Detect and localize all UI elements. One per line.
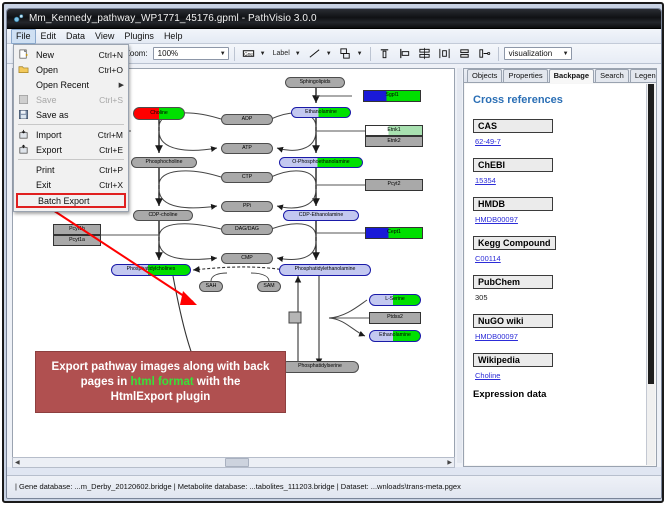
- file-menu-import-accel: Ctrl+M: [98, 130, 128, 140]
- xref-value[interactable]: 15354: [475, 176, 639, 185]
- screenshot-root: Mm_Kennedy_pathway_WP1771_45176.gpml - P…: [0, 0, 670, 509]
- file-menu-print-accel: Ctrl+P: [99, 165, 128, 175]
- backpage-title: Cross references: [473, 94, 639, 106]
- xref-entry-hmdb: HMDB HMDB00097: [473, 194, 639, 224]
- tab-legend[interactable]: Legend: [630, 69, 657, 82]
- export-icon: [18, 144, 29, 155]
- backpage-vertical-scrollbar[interactable]: [646, 84, 655, 465]
- file-menu-export-accel: Ctrl+E: [99, 145, 128, 155]
- node-sah[interactable]: SAH: [199, 281, 223, 292]
- shape-tool[interactable]: ▼: [337, 45, 365, 62]
- file-menu-export[interactable]: Export Ctrl+E: [14, 142, 128, 157]
- node-sphingolipids[interactable]: Sphingolipids: [285, 77, 345, 88]
- file-menu-open-recent-label: Open Recent: [36, 80, 128, 90]
- node-label: Phosphocholine: [146, 160, 183, 165]
- toolbar-separator: [234, 47, 235, 61]
- callout-banner: Export pathway images along with back pa…: [35, 351, 286, 413]
- xref-head: Wikipedia: [473, 353, 553, 367]
- label-tool[interactable]: Label ▼: [271, 50, 303, 57]
- xref-link[interactable]: C00114: [475, 254, 501, 263]
- xref-value: 305: [475, 293, 639, 302]
- svg-text:Gne: Gne: [244, 51, 253, 56]
- file-menu-new-label: New: [36, 50, 99, 60]
- xref-link[interactable]: 15354: [475, 176, 496, 185]
- save-icon: [18, 94, 29, 105]
- file-menu-exit-accel: Ctrl+X: [99, 180, 128, 190]
- line-tool[interactable]: ▼: [306, 45, 334, 62]
- callout-line1: Export pathway images along with back: [52, 360, 270, 375]
- node-cdp-choline[interactable]: CDP-choline: [133, 210, 193, 221]
- side-panel: Objects Properties Backpage Search Legen…: [463, 68, 657, 467]
- file-menu-import-label: Import: [36, 130, 98, 140]
- xref-link[interactable]: 62-49-7: [475, 137, 501, 146]
- xref-entry-cas: CAS 62-49-7: [473, 116, 639, 146]
- xref-value[interactable]: HMDB00097: [475, 215, 639, 224]
- node-label: Ethanolamine: [379, 333, 411, 338]
- callout-line2-pre: pages in: [81, 376, 131, 388]
- node-etnk1[interactable]: Etnk1: [365, 125, 423, 136]
- callout-line2-highlight: html format: [130, 376, 193, 388]
- genes-icon[interactable]: Gne: [240, 45, 257, 62]
- node-ptdss2[interactable]: Ptdss2: [369, 312, 421, 324]
- node-label: Pcyt1a: [69, 238, 85, 243]
- pathvisio-icon: [13, 13, 24, 24]
- file-menu-save-label: Save: [36, 95, 99, 105]
- status-bar: | Gene database: ...m_Derby_20120602.bri…: [7, 475, 661, 498]
- align-top-icon[interactable]: [376, 45, 393, 62]
- window-title: Mm_Kennedy_pathway_WP1771_45176.gpml - P…: [29, 9, 317, 29]
- file-menu-open-accel: Ctrl+O: [98, 65, 128, 75]
- menu-file[interactable]: File: [11, 29, 36, 44]
- file-menu-exit-label: Exit: [36, 180, 99, 190]
- file-menu-save: Save Ctrl+S: [14, 92, 128, 107]
- label-tool-label[interactable]: Label: [271, 50, 292, 57]
- xref-head: Kegg Compound: [473, 236, 556, 250]
- tab-backpage[interactable]: Backpage: [549, 69, 594, 83]
- menu-bar[interactable]: File Edit Data View Plugins Help: [7, 29, 661, 44]
- file-menu-print-label: Print: [36, 165, 99, 175]
- node-l-serine[interactable]: L-Serine: [369, 294, 421, 306]
- node-label: Pcyt2: [388, 182, 401, 187]
- toolbar-separator: [370, 47, 371, 61]
- zoom-combo[interactable]: 100% ▼: [153, 47, 229, 60]
- visualization-value: visualization: [509, 49, 553, 58]
- xref-link[interactable]: HMDB00097: [475, 215, 518, 224]
- node-label: Ptdss2: [387, 315, 403, 320]
- toolbar-separator: [498, 47, 499, 61]
- file-menu-popup[interactable]: New Ctrl+N Open Ctrl+O Open Recent ▶ Sav…: [13, 44, 129, 212]
- xref-value[interactable]: C00114: [475, 254, 639, 263]
- chevron-down-icon[interactable]: ▼: [324, 51, 334, 57]
- xref-entry-wikipedia: Wikipedia Choline: [473, 350, 639, 380]
- node-label: L-Serine: [385, 297, 405, 302]
- node-sam[interactable]: SAM: [257, 281, 281, 292]
- menu-edit[interactable]: Edit: [36, 30, 62, 43]
- expression-data-header: Expression data: [473, 389, 639, 400]
- zoom-value: 100%: [158, 49, 178, 58]
- node-pcyt2[interactable]: Pcyt2: [365, 179, 423, 191]
- tab-search[interactable]: Search: [595, 69, 629, 82]
- xref-head: CAS: [473, 119, 553, 133]
- callout-line2: pages in html format with the: [81, 375, 241, 390]
- node-cmp[interactable]: CMP: [221, 253, 273, 264]
- node-label: Sphingolipids: [300, 80, 331, 85]
- callout-line2-post: with the: [194, 376, 241, 388]
- align-center-icon[interactable]: [416, 45, 433, 62]
- chevron-right-icon: ▶: [119, 81, 124, 89]
- node-label: CMP: [241, 256, 253, 261]
- split-divider[interactable]: [457, 68, 462, 463]
- open-folder-icon: [18, 64, 29, 75]
- side-panel-tabs[interactable]: Objects Properties Backpage Search Legen…: [464, 69, 656, 83]
- node-o-phosphoethanolamine[interactable]: O-Phosphoethanolamine: [279, 157, 363, 168]
- xref-link[interactable]: HMDB00097: [475, 332, 518, 341]
- file-menu-save-as[interactable]: Save as: [14, 107, 128, 122]
- menu-data[interactable]: Data: [61, 30, 90, 43]
- file-menu-batch-export[interactable]: Batch Export: [16, 193, 126, 208]
- title-bar: Mm_Kennedy_pathway_WP1771_45176.gpml - P…: [7, 9, 661, 29]
- status-text: | Gene database: ...m_Derby_20120602.bri…: [15, 482, 461, 491]
- node-sgpl1[interactable]: Sgpl1: [363, 90, 421, 102]
- chevron-down-icon: ▼: [220, 51, 226, 57]
- xref-head: ChEBI: [473, 158, 553, 172]
- callout-line3: HtmlExport plugin: [111, 390, 211, 405]
- new-document-icon: [18, 49, 29, 60]
- xref-entry-nugo-wiki: NuGO wiki HMDB00097: [473, 311, 639, 341]
- file-menu-import[interactable]: Import Ctrl+M: [14, 127, 128, 142]
- xref-value[interactable]: HMDB00097: [475, 332, 639, 341]
- scroll-left-icon[interactable]: ◀: [13, 459, 22, 466]
- node-label: Etnk2: [387, 139, 400, 144]
- scroll-right-icon[interactable]: ▶: [445, 459, 454, 466]
- chevron-down-icon: ▼: [563, 51, 569, 57]
- tab-objects[interactable]: Objects: [467, 69, 502, 82]
- node-phosphatidylethanolamine[interactable]: Phosphatidylethanolamine: [279, 264, 371, 276]
- node-dag[interactable]: DAG/DAG: [221, 224, 273, 235]
- node-label: DAG/DAG: [235, 227, 259, 232]
- node-adp[interactable]: ADP: [221, 114, 273, 125]
- application-window: Mm_Kennedy_pathway_WP1771_45176.gpml - P…: [6, 8, 662, 499]
- visualization-combo[interactable]: visualization ▼: [504, 47, 572, 60]
- node-label: Phosphatidylserine: [298, 364, 342, 369]
- node-label: Phosphatidylcholines: [127, 267, 176, 272]
- tab-properties[interactable]: Properties: [503, 69, 547, 82]
- file-menu-open[interactable]: Open Ctrl+O: [14, 62, 128, 77]
- align-left-icon[interactable]: [396, 45, 413, 62]
- import-icon: [18, 129, 29, 140]
- save-as-icon: [18, 109, 29, 120]
- file-menu-new[interactable]: New Ctrl+N: [14, 47, 128, 62]
- node-label: SAM: [263, 284, 274, 289]
- node-etnk2[interactable]: Etnk2: [365, 136, 423, 147]
- node-label: Phosphatidylethanolamine: [295, 267, 356, 272]
- node-label: PPi: [243, 204, 251, 209]
- node-pcyt1a[interactable]: Pcyt1a: [53, 235, 101, 246]
- file-menu-save-as-label: Save as: [36, 110, 123, 120]
- scroll-thumb[interactable]: [225, 458, 249, 467]
- menu-divider: [18, 124, 124, 125]
- chevron-down-icon[interactable]: ▼: [293, 51, 303, 57]
- node-label: Etnk1: [387, 128, 400, 133]
- file-menu-print[interactable]: Print Ctrl+P: [14, 162, 128, 177]
- node-label: Pcyt1b: [69, 227, 85, 232]
- node-ppi[interactable]: PPi: [221, 201, 273, 212]
- xref-value[interactable]: 62-49-7: [475, 137, 639, 146]
- menu-divider: [18, 159, 124, 160]
- menu-plugins[interactable]: Plugins: [119, 30, 159, 43]
- node-choline[interactable]: Choline: [133, 107, 185, 120]
- node-cdp-ethanolamine[interactable]: CDP-Ethanolamine: [283, 210, 359, 221]
- node-pcyt1b[interactable]: Pcyt1b: [53, 224, 101, 235]
- xref-link[interactable]: Choline: [475, 371, 500, 380]
- file-menu-save-accel: Ctrl+S: [99, 95, 128, 105]
- backpage-content: Cross references CAS 62-49-7 ChEBI 15354…: [465, 84, 647, 465]
- scroll-thumb[interactable]: [648, 84, 654, 384]
- file-menu-exit[interactable]: Exit Ctrl+X: [14, 177, 128, 192]
- distribute-icon[interactable]: [436, 45, 453, 62]
- datanode-tool[interactable]: Gne ▼: [240, 45, 268, 62]
- xref-head: PubChem: [473, 275, 553, 289]
- file-menu-export-label: Export: [36, 145, 99, 155]
- xref-head: HMDB: [473, 197, 553, 211]
- node-atp[interactable]: ATP: [221, 143, 273, 154]
- file-menu-new-accel: Ctrl+N: [99, 50, 128, 60]
- node-label: CDP-choline: [148, 213, 177, 218]
- node-label: CDP-Ethanolamine: [299, 213, 343, 218]
- canvas-horizontal-scrollbar[interactable]: ◀ ▶: [12, 457, 455, 468]
- file-menu-open-recent[interactable]: Open Recent ▶: [14, 77, 128, 92]
- xref-entry-chebi: ChEBI 15354: [473, 155, 639, 185]
- group-icon[interactable]: [476, 45, 493, 62]
- node-phosphocholine[interactable]: Phosphocholine: [131, 157, 197, 168]
- xref-entry-pubchem: PubChem 305: [473, 272, 639, 302]
- node-ethanolamine-2[interactable]: Ethanolamine: [369, 330, 421, 342]
- node-label: SAH: [206, 284, 217, 289]
- node-ctp[interactable]: CTP: [221, 172, 273, 183]
- node-cept1[interactable]: Cept1: [365, 227, 423, 239]
- line-icon[interactable]: [306, 45, 323, 62]
- node-ethanolamine[interactable]: Ethanolamine: [291, 107, 351, 118]
- xref-entry-kegg-compound: Kegg Compound C00114: [473, 233, 639, 263]
- file-menu-open-label: Open: [36, 65, 98, 75]
- node-label: ATP: [242, 146, 252, 151]
- stack-icon[interactable]: [456, 45, 473, 62]
- xref-value[interactable]: Choline: [475, 371, 639, 380]
- menu-view[interactable]: View: [90, 30, 119, 43]
- node-label: Ethanolamine: [305, 110, 337, 115]
- node-label: O-Phosphoethanolamine: [292, 160, 349, 165]
- xref-head: NuGO wiki: [473, 314, 553, 328]
- menu-help[interactable]: Help: [159, 30, 188, 43]
- chevron-down-icon[interactable]: ▼: [258, 51, 268, 57]
- shape-icon[interactable]: [337, 45, 354, 62]
- chevron-down-icon[interactable]: ▼: [355, 51, 365, 57]
- node-label: Choline: [150, 111, 168, 116]
- node-label: Sgpl1: [385, 93, 398, 98]
- file-menu-batch-export-label: Batch Export: [38, 196, 124, 206]
- node-label: Cept1: [387, 230, 401, 235]
- node-phosphatidylserine[interactable]: Phosphatidylserine: [281, 361, 359, 373]
- node-label: CTP: [242, 175, 252, 180]
- node-label: ADP: [242, 117, 253, 122]
- node-phosphatidylcholines[interactable]: Phosphatidylcholines: [111, 264, 191, 276]
